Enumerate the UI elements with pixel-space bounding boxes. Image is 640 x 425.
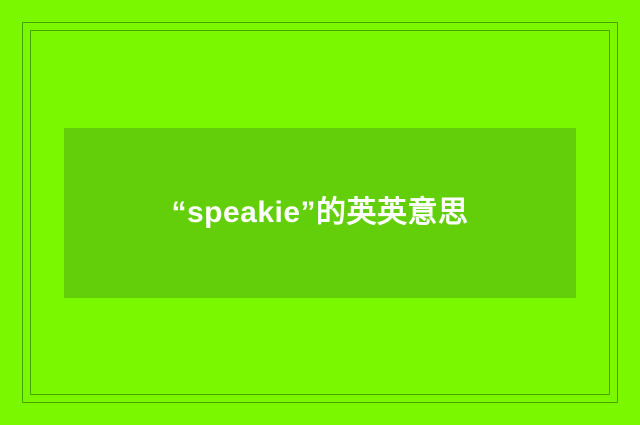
headline-text: “speakie”的英英意思 bbox=[155, 184, 485, 243]
image-canvas: “speakie”的英英意思 bbox=[0, 0, 640, 425]
headline-panel: “speakie”的英英意思 bbox=[64, 128, 576, 298]
